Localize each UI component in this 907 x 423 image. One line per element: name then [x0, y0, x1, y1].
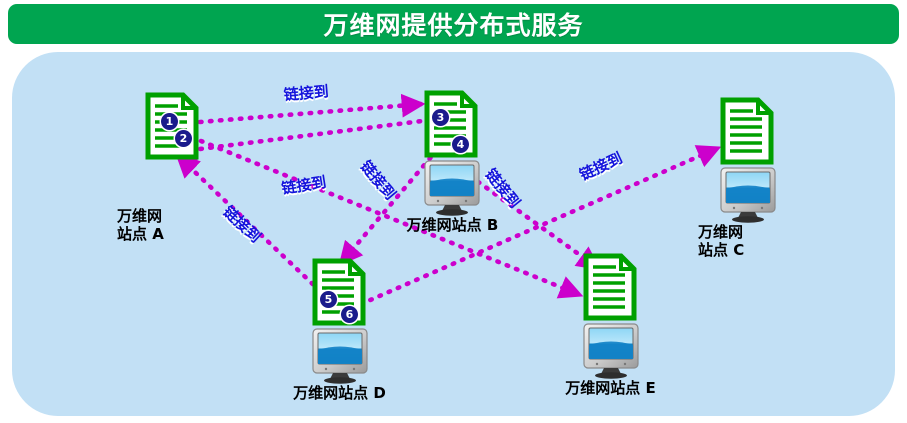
node-b-caption: 万维网站点 B	[375, 216, 530, 234]
link-b3-to-a	[176, 120, 430, 152]
node-c-caption: 万维网 站点 C	[698, 223, 798, 260]
monitor-icon-d	[311, 328, 369, 384]
link-label-a-to-b: 链接到 链接到	[283, 80, 330, 105]
badge-1: 1	[161, 113, 178, 130]
node-a-caption: 万维网 站点 A	[117, 207, 227, 244]
node-d[interactable]: 5 6 万维网站点 D	[312, 258, 366, 326]
node-a[interactable]: 1 2 万维网 站点 A	[145, 92, 199, 160]
monitor-icon-e	[582, 323, 640, 379]
node-c[interactable]: 万维网 站点 C	[720, 97, 774, 165]
node-d-caption: 万维网站点 D	[262, 384, 417, 402]
monitor-icon-b	[423, 160, 481, 216]
node-e[interactable]: 万维网站点 E	[583, 253, 637, 321]
document-icon-d: 5 6	[312, 258, 366, 326]
badge-5: 5	[320, 291, 337, 308]
badge-3: 3	[432, 109, 449, 126]
document-icon-a: 1 2	[145, 92, 199, 160]
badge-4: 4	[452, 136, 469, 153]
node-b[interactable]: 3 4	[424, 90, 478, 158]
diagram-root: 万维网提供分布式服务 链接到	[0, 0, 907, 423]
document-icon-e	[583, 253, 637, 321]
badge-2: 2	[175, 130, 192, 147]
document-icon-c	[720, 97, 774, 165]
document-icon-b: 3 4	[424, 90, 478, 158]
monitor-icon-c	[719, 167, 777, 223]
link-a1-to-b	[200, 104, 422, 122]
badge-6: 6	[341, 306, 358, 323]
node-e-caption: 万维网站点 E	[533, 379, 688, 397]
